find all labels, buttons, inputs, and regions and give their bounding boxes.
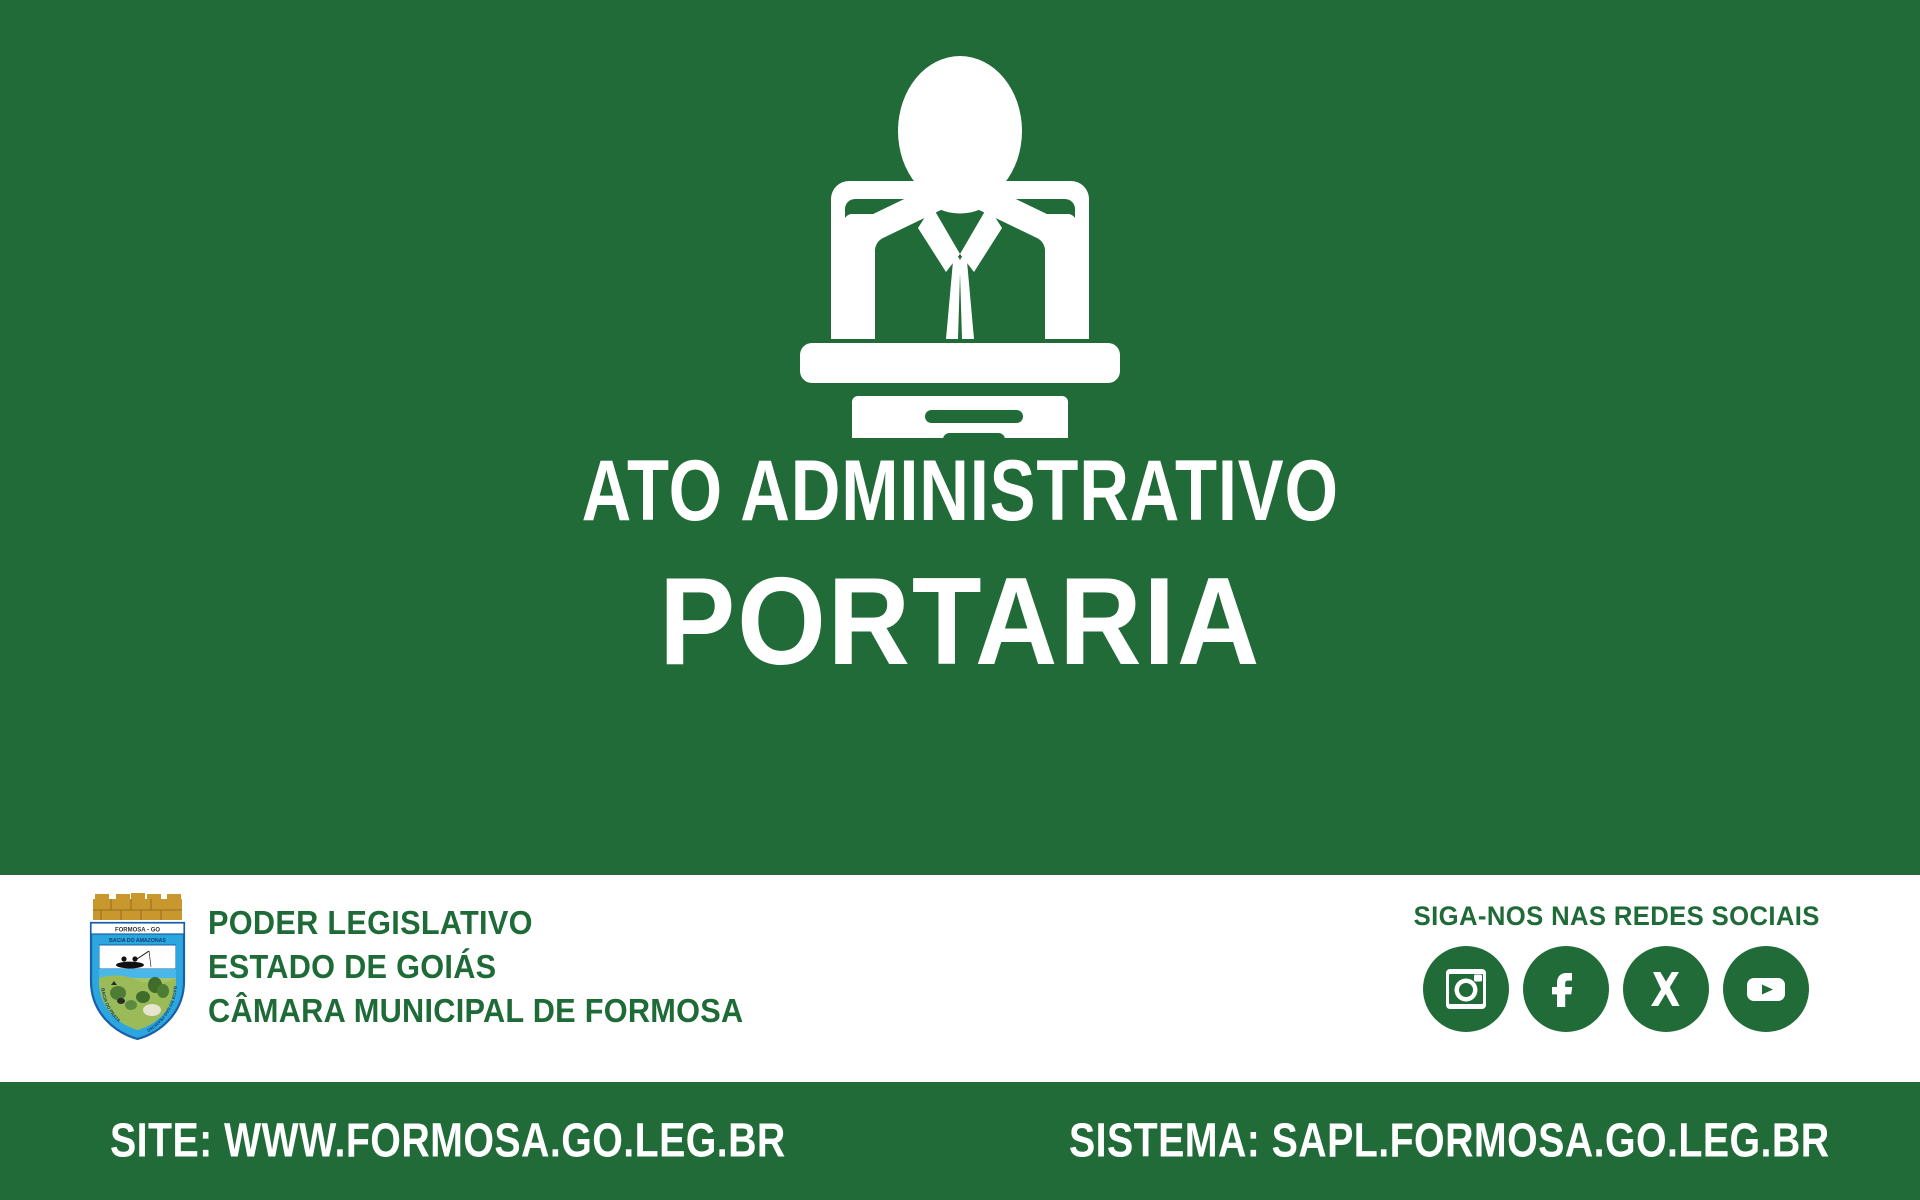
hero-section: ATO ADMINISTRATIVO PORTARIA <box>0 0 1920 875</box>
social-block: SIGA-NOS NAS REDES SOCIAIS <box>1403 901 1830 1032</box>
org-line-1: PODER LEGISLATIVO <box>208 902 744 944</box>
org-line-3: CÂMARA MUNICIPAL DE FORMOSA <box>208 990 744 1032</box>
institution-block: FORMOSA - GO BACIA DO AMAZONAS <box>85 893 784 1041</box>
x-twitter-icon[interactable] <box>1623 946 1709 1032</box>
poster-canvas: ATO ADMINISTRATIVO PORTARIA <box>0 0 1920 1200</box>
formosa-coat-of-arms: FORMOSA - GO BACIA DO AMAZONAS <box>85 893 190 1041</box>
crest-crown <box>93 893 182 920</box>
crest-banner-text: FORMOSA - GO <box>115 928 160 934</box>
system-url: SISTEMA: SAPL.FORMOSA.GO.LEG.BR <box>1069 1114 1830 1169</box>
page-title: ATO ADMINISTRATIVO <box>581 448 1338 536</box>
facebook-icon[interactable] <box>1523 946 1609 1032</box>
instagram-icon[interactable] <box>1423 946 1509 1032</box>
organization-name: PODER LEGISLATIVO ESTADO DE GOIÁS CÂMARA… <box>208 902 784 1033</box>
crest-upper-text: BACIA DO AMAZONAS <box>109 938 166 944</box>
social-heading: SIGA-NOS NAS REDES SOCIAIS <box>1413 901 1819 932</box>
social-links <box>1423 946 1809 1032</box>
site-url: SITE: WWW.FORMOSA.GO.LEG.BR <box>110 1114 786 1169</box>
org-line-2: ESTADO DE GOIÁS <box>208 946 744 988</box>
page-subtitle: PORTARIA <box>659 560 1261 684</box>
speaker-podium-icon <box>780 38 1140 438</box>
bottom-bar: SITE: WWW.FORMOSA.GO.LEG.BR SISTEMA: SAP… <box>0 1082 1920 1200</box>
youtube-icon[interactable] <box>1723 946 1809 1032</box>
footer-band: FORMOSA - GO BACIA DO AMAZONAS <box>0 875 1920 1082</box>
